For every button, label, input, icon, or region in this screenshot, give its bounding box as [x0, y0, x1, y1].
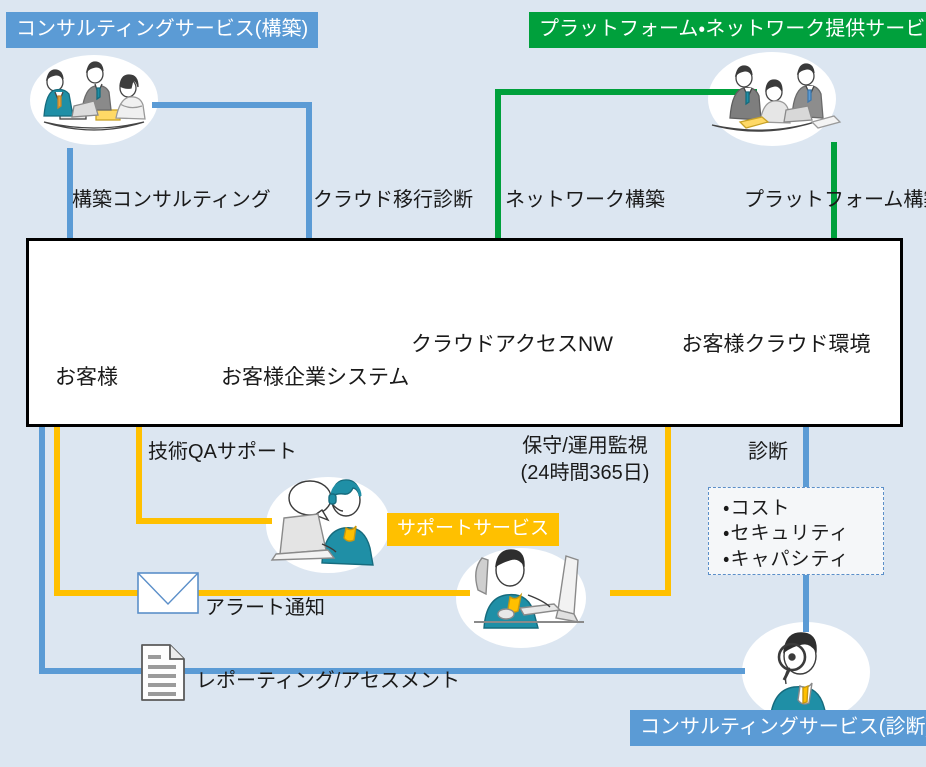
- badge-consulting-build[interactable]: コンサルティングサービス(構築): [6, 12, 318, 48]
- label-maintenance-line1: 保守/運用監視: [505, 434, 665, 458]
- diagnosis-item: ・セキュリティ: [723, 521, 873, 546]
- diagnosis-items-box: ・コスト ・セキュリティ ・キャパシティ: [708, 487, 884, 575]
- badge-consulting-diagnosis[interactable]: コンサルティングサービス(診断): [630, 710, 926, 746]
- badge-support-service[interactable]: サポートサービス: [387, 513, 559, 546]
- label-reporting-assessment: レポーティング/アセスメント: [196, 669, 460, 693]
- consultants-meeting-icon: [44, 62, 145, 130]
- label-alert-notification: アラート通知: [205, 596, 325, 620]
- badge-platform-network[interactable]: プラットフォーム・ネットワーク提供サービス: [529, 12, 926, 48]
- label-cloud-migration-assessment: クラウド移行診断: [313, 188, 473, 212]
- label-diagnosis: 診断: [748, 440, 788, 464]
- label-customer-cloud-env: お客様クラウド環境: [664, 332, 888, 358]
- engineers-group-icon: [712, 64, 840, 131]
- diagram-canvas: コンサルティングサービス(構築) プラットフォーム・ネットワーク提供サービス サ…: [0, 0, 926, 767]
- label-network-build: ネットワーク構築: [505, 188, 665, 212]
- label-tech-qa-support: 技術QAサポート: [148, 440, 297, 464]
- label-build-consulting: 構築コンサルティング: [72, 188, 271, 212]
- operator-headset-icon: [272, 480, 373, 565]
- label-maintenance-line2: (24時間365日): [505, 461, 665, 485]
- label-cloud-access-nw: クラウドアクセスNW: [411, 332, 605, 358]
- document-report-icon: [142, 645, 184, 700]
- label-customer-system: お客様企業システム: [221, 365, 409, 391]
- envelope-icon: [138, 573, 198, 613]
- label-platform-build: プラットフォーム構築: [744, 188, 926, 212]
- diagnosis-item: ・コスト: [723, 496, 873, 521]
- label-customer: お客様: [55, 365, 118, 391]
- engineer-desk-icon: [474, 550, 584, 628]
- diagnosis-item: ・キャパシティ: [723, 547, 873, 572]
- analyst-magnifier-icon: [770, 633, 828, 722]
